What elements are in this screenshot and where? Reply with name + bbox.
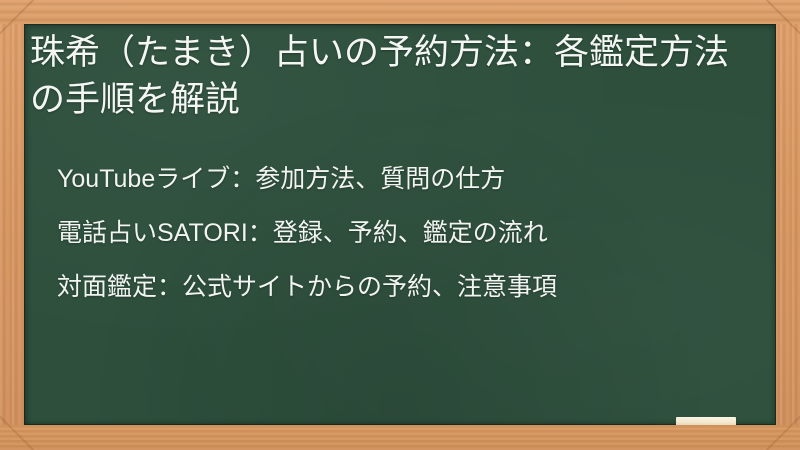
page-title: 珠希（たまき）占いの予約方法：各鑑定方法の手順を解説 bbox=[30, 29, 746, 123]
chalkboard-surface: 珠希（たまき）占いの予約方法：各鑑定方法の手順を解説 YouTubeライブ：参加… bbox=[24, 24, 776, 425]
chalkboard-wooden-frame: 珠希（たまき）占いの予約方法：各鑑定方法の手順を解説 YouTubeライブ：参加… bbox=[0, 0, 800, 450]
frame-rail-top bbox=[0, 0, 800, 24]
chalk-stick-icon bbox=[676, 417, 736, 425]
list-item: 電話占いSATORI：登録、予約、鑑定の流れ bbox=[57, 206, 757, 260]
topic-list: YouTubeライブ：参加方法、質問の仕方 電話占いSATORI：登録、予約、鑑… bbox=[57, 152, 757, 314]
list-item: YouTubeライブ：参加方法、質問の仕方 bbox=[57, 152, 757, 206]
frame-rail-bottom bbox=[0, 425, 800, 450]
list-item: 対面鑑定：公式サイトからの予約、注意事項 bbox=[57, 260, 757, 314]
